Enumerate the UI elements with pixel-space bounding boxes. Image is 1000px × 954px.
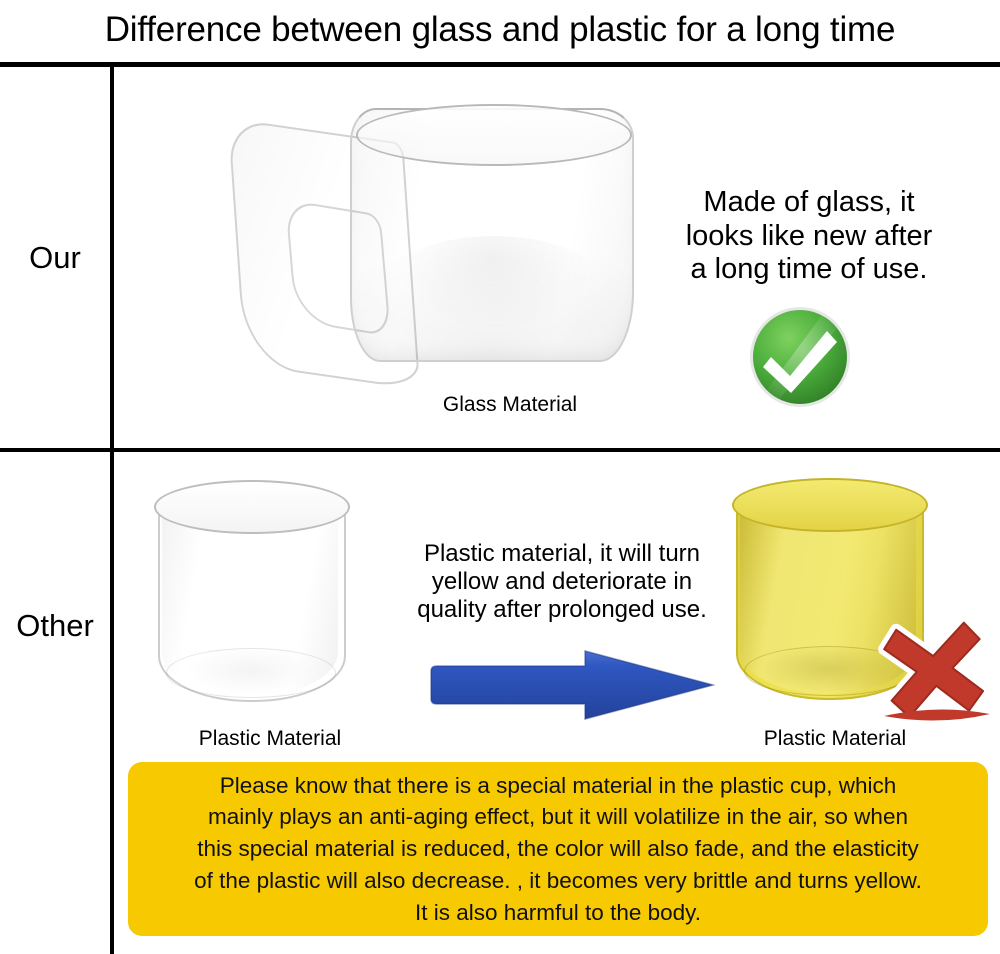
glass-mug-rim [356, 104, 632, 166]
row-label-our: Our [0, 240, 110, 276]
green-check-icon [748, 305, 852, 409]
caption-glass-material: Glass Material [390, 393, 630, 417]
comparison-infographic: Difference between glass and plastic for… [0, 0, 1000, 954]
plastic-drawback-line-3: quality after prolonged use. [402, 596, 722, 624]
warning-line-2: mainly plays an anti-aging effect, but i… [208, 801, 908, 833]
plastic-drawback-line-1: Plastic material, it will turn [402, 540, 722, 568]
glass-mug-image [228, 96, 648, 396]
warning-line-4: of the plastic will also decrease. , it … [194, 865, 922, 897]
warning-line-1: Please know that there is a special mate… [220, 770, 897, 802]
caption-plastic-material-before: Plastic Material [135, 727, 405, 751]
warning-note-box: Please know that there is a special mate… [128, 762, 988, 936]
warning-line-5: It is also harmful to the body. [415, 897, 701, 929]
glass-mug-inner-shading [378, 236, 610, 348]
red-x-icon [876, 612, 996, 730]
plastic-drawback-text: Plastic material, it will turn yellow an… [402, 540, 722, 623]
clear-plastic-cup-image [152, 480, 348, 708]
grid-divider-vertical [110, 62, 114, 954]
glass-benefit-line-2: looks like new after [648, 220, 970, 254]
clear-cup-rim [154, 480, 350, 534]
grid-divider-top [0, 62, 1000, 67]
caption-plastic-material-after: Plastic Material [700, 727, 970, 751]
right-arrow-icon [425, 645, 715, 725]
clear-cup-base [166, 648, 336, 698]
page-title: Difference between glass and plastic for… [0, 0, 1000, 58]
row-label-other: Other [0, 608, 110, 644]
grid-divider-middle [0, 448, 1000, 452]
glass-benefit-line-3: a long time of use. [648, 253, 970, 287]
warning-line-3: this special material is reduced, the co… [197, 833, 919, 865]
glass-benefit-text: Made of glass, it looks like new after a… [648, 186, 970, 287]
plastic-drawback-line-2: yellow and deteriorate in [402, 568, 722, 596]
yellow-cup-rim [732, 478, 928, 532]
glass-benefit-line-1: Made of glass, it [648, 186, 970, 220]
